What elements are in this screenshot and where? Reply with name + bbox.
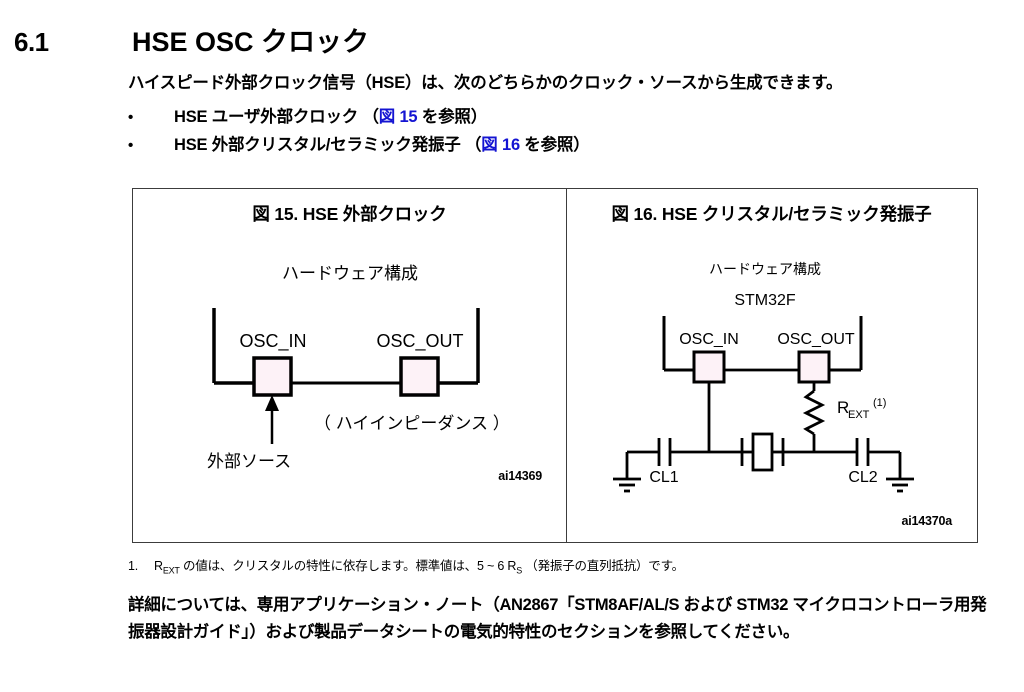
footnote-part1: R — [154, 559, 163, 573]
figure-16-ground-left-icon — [613, 479, 641, 491]
figure-16-cl2-label: CL2 — [848, 469, 877, 486]
list-item-text-after: を参照） — [520, 136, 590, 154]
figure-16-device-label: STM32F — [734, 292, 796, 309]
figure-15-impedance-label: （ ハイインピーダンス ） — [314, 414, 510, 433]
list-item-text: HSE 外部クリスタル/セラミック発振子 （図 16 を参照） — [174, 131, 590, 155]
bullet-list: • HSE ユーザ外部クロック （図 15 を参照） • HSE 外部クリスタル… — [128, 103, 1008, 159]
figure-16-rext-label: R EXT (1) — [837, 397, 886, 421]
list-item: • HSE ユーザ外部クロック （図 15 を参照） — [128, 103, 1008, 131]
figure-16-code: ai14370a — [901, 514, 952, 528]
figure-link-16[interactable]: 図 16 — [481, 136, 520, 154]
figure-16-rext-net — [806, 382, 822, 452]
footnote-part2: の値は、クリスタルの特性に依存します。標準値は、5 ~ 6 R — [180, 559, 516, 573]
figure-15-osc-out-label: OSC_OUT — [376, 331, 463, 352]
closing-paragraph: 詳細については、専用アプリケーション・ノート（AN2867「STM8AF/AL/… — [128, 592, 996, 646]
figure-15-source-arrow-icon — [265, 395, 279, 444]
figure-16-osc-in-pad — [694, 352, 724, 382]
figure-16-diagram: ハードウェア構成 STM32F OSC_IN OSC_OUT — [567, 189, 976, 544]
figure-15-diagram: ハードウェア構成 OSC_IN OSC_OUT — [133, 189, 567, 544]
figure-15-panel: 図 15. HSE 外部クロック ハードウェア構成 OSC_IN OSC_OUT — [133, 189, 567, 542]
figure-15-code: ai14369 — [498, 469, 542, 483]
list-item-text-before: HSE 外部クリスタル/セラミック発振子 （ — [174, 136, 481, 154]
list-item-text-before: HSE ユーザ外部クロック （ — [174, 108, 379, 126]
figure-16-cl1-label: CL1 — [649, 469, 678, 486]
figure-16-osc-out-pad — [799, 352, 829, 382]
figure-15-hardware-label: ハードウェア構成 — [282, 264, 418, 283]
figures-frame: 図 15. HSE 外部クロック ハードウェア構成 OSC_IN OSC_OUT — [132, 188, 978, 543]
list-item-text-after: を参照） — [417, 108, 487, 126]
footnote: 1. REXT の値は、クリスタルの特性に依存します。標準値は、5 ~ 6 RS… — [128, 555, 1008, 576]
figure-16-hardware-label: ハードウェア構成 — [709, 261, 821, 277]
intro-paragraph: ハイスピード外部クロック信号（HSE）は、次のどちらかのクロック・ソースから生成… — [128, 73, 1008, 93]
page-heading: 6.1 HSE OSC クロック — [14, 20, 1004, 59]
page-title: HSE OSC クロック — [132, 20, 369, 59]
bullet-dot-icon: • — [128, 110, 174, 125]
figure-link-15[interactable]: 図 15 — [379, 108, 418, 126]
list-item: • HSE 外部クリスタル/セラミック発振子 （図 16 を参照） — [128, 131, 1008, 159]
list-item-text: HSE ユーザ外部クロック （図 15 を参照） — [174, 103, 487, 127]
footnote-part1-sub: EXT — [163, 566, 180, 576]
figure-16-rext-label-sub: EXT — [848, 409, 870, 421]
figure-16-osc-out-label: OSC_OUT — [777, 331, 855, 348]
figure-15-osc-out-pad — [401, 358, 438, 395]
figure-16-ground-right-icon — [886, 479, 914, 491]
bullet-dot-icon: • — [128, 138, 174, 153]
figure-15-osc-in-label: OSC_IN — [239, 331, 306, 352]
footnote-text: REXT の値は、クリスタルの特性に依存します。標準値は、5 ~ 6 RS （発… — [154, 555, 684, 576]
figure-15-source-label: 外部ソース — [207, 452, 291, 471]
figure-16-panel: 図 16. HSE クリスタル/セラミック発振子 ハードウェア構成 STM32F… — [567, 189, 976, 542]
figure-15-osc-in-pad — [254, 358, 291, 395]
footnote-part3: （発振子の直列抵抗）です。 — [522, 559, 684, 573]
figure-16-osc-in-label: OSC_IN — [679, 331, 739, 348]
footnote-number: 1. — [128, 559, 154, 573]
section-number: 6.1 — [14, 27, 132, 58]
figure-16-rext-label-sup: (1) — [873, 397, 886, 409]
